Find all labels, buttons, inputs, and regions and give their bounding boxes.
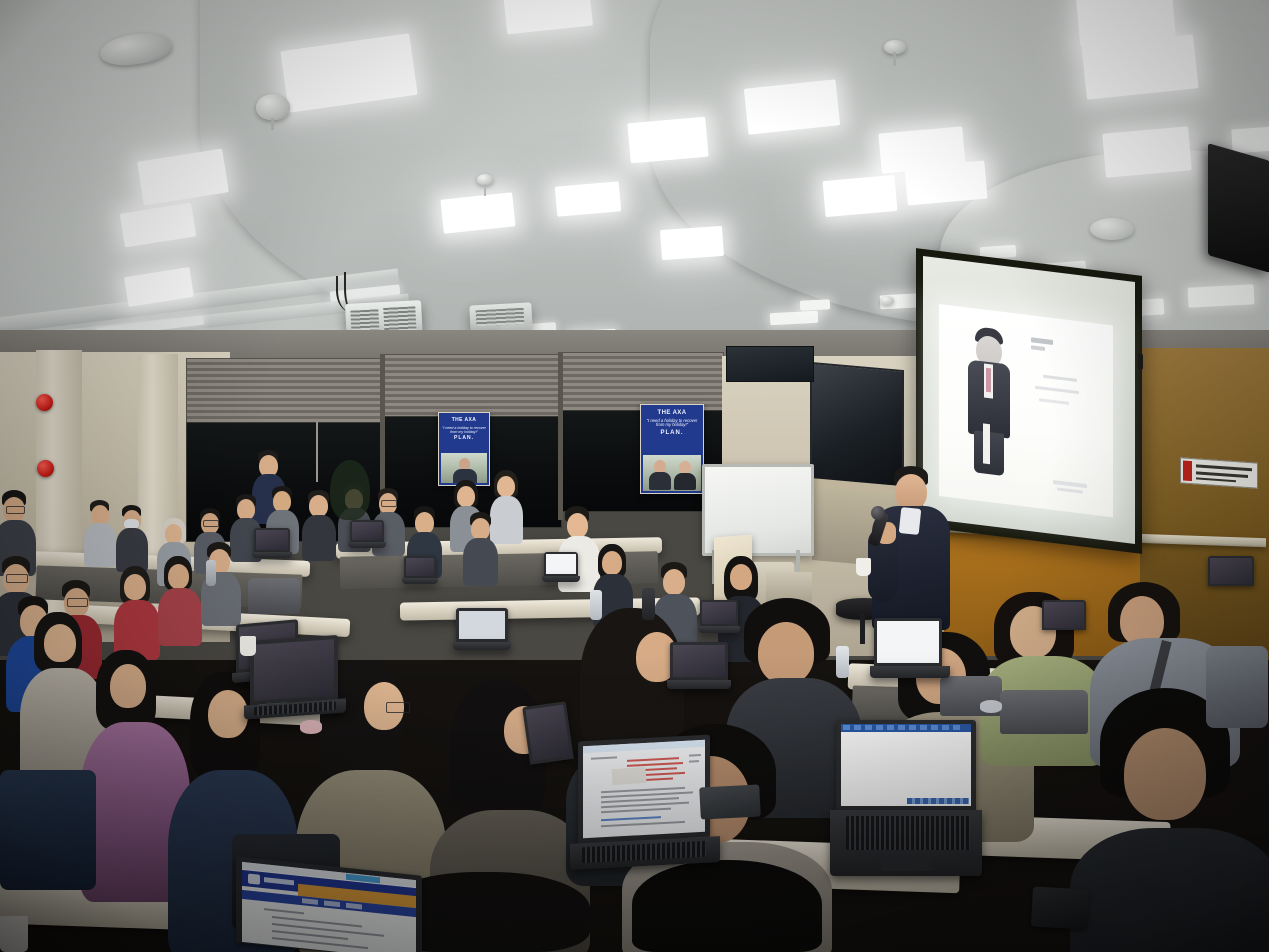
laptop-base[interactable] — [667, 680, 731, 689]
notebook[interactable] — [699, 784, 761, 819]
water-bottle[interactable] — [206, 560, 216, 586]
person-head — [168, 564, 189, 589]
banner-left: THE AXA “I need a holiday to recover fro… — [438, 412, 490, 486]
person-head — [567, 513, 588, 538]
person-head — [602, 551, 622, 575]
laptop-base[interactable] — [402, 578, 438, 584]
paper-cup[interactable] — [0, 916, 28, 952]
blind-pull-cord[interactable] — [316, 422, 318, 482]
lecture-hall-photo: THE AXA “I need a holiday to recover fro… — [0, 0, 1269, 952]
person-head — [497, 476, 515, 497]
laptop-base[interactable] — [252, 552, 292, 558]
banner-title: THE AXA — [439, 418, 489, 424]
laptop-screen[interactable] — [406, 558, 434, 576]
ceiling-ac-unit-right — [469, 302, 532, 333]
eyeglasses — [6, 574, 28, 583]
laptop-screen[interactable] — [877, 621, 939, 663]
chair-back — [248, 578, 300, 614]
laptop-base[interactable] — [542, 576, 580, 582]
wall-display-panel — [726, 346, 814, 382]
person-torso — [463, 538, 498, 586]
papers[interactable] — [611, 767, 646, 785]
ceiling-light — [823, 175, 898, 217]
backpack — [0, 770, 96, 890]
water-bottle[interactable] — [590, 590, 602, 620]
app-logo — [248, 873, 260, 884]
stool-leg — [860, 614, 865, 644]
detector-stem — [271, 118, 274, 130]
fire-alarm-icon — [36, 394, 53, 411]
figure-tie — [986, 368, 991, 393]
laptop-lid — [544, 552, 578, 576]
laptop-screen[interactable] — [673, 645, 725, 677]
fire-alarm-icon — [37, 460, 54, 477]
banner-photo — [643, 455, 701, 491]
laptop-lid — [522, 701, 574, 765]
eyeglasses — [67, 598, 88, 607]
person-head — [44, 624, 76, 662]
person-torso — [158, 588, 202, 646]
document-text-line — [601, 821, 685, 827]
laptop-lid — [836, 720, 976, 810]
slide-body-line — [1043, 375, 1077, 382]
document-sidebar-line — [689, 760, 699, 763]
ceiling-light — [770, 311, 819, 325]
vent-grille — [383, 306, 416, 332]
list-row — [264, 908, 304, 914]
projected-slide — [939, 304, 1113, 517]
person-head — [415, 512, 434, 534]
banner-quote: “I need a holiday to recover from my hol… — [442, 426, 486, 434]
plant — [330, 460, 370, 520]
sign-accent-block — [1183, 460, 1192, 481]
laptop-lid — [404, 556, 436, 578]
smartphone[interactable] — [1031, 887, 1089, 930]
ceiling-light — [800, 299, 830, 311]
person-torso — [302, 515, 336, 561]
person-hair — [632, 860, 822, 952]
eyeglasses — [381, 500, 397, 507]
document-text-line — [601, 816, 661, 821]
ceiling-light — [660, 226, 724, 260]
detector-stem — [893, 52, 896, 66]
laptop-screen[interactable] — [352, 522, 382, 540]
person-torso — [84, 523, 116, 567]
person-head — [457, 486, 475, 507]
laptop-lid — [1208, 556, 1254, 586]
smoke-detector-icon — [256, 94, 290, 120]
presenter-shirt-collar — [899, 507, 922, 535]
person-head — [730, 564, 752, 590]
laptop-base[interactable] — [698, 626, 740, 633]
chair-back — [1000, 690, 1088, 734]
list-row — [272, 937, 368, 949]
screen-mount-hook — [1138, 353, 1143, 370]
sign-text-line — [1196, 477, 1236, 482]
ceiling-light — [744, 79, 840, 134]
laptop-screen[interactable] — [256, 530, 288, 550]
laptop-screen[interactable] — [242, 862, 416, 952]
person-head — [758, 622, 814, 684]
laptop-lid — [1042, 600, 1086, 630]
laptop-trackpad[interactable] — [882, 853, 932, 871]
banner-person-body — [674, 473, 696, 490]
presenter — [866, 466, 958, 632]
person-head — [124, 574, 146, 600]
detector-stem — [484, 184, 486, 196]
laptop-lid — [456, 608, 508, 642]
eyeglasses — [6, 506, 25, 514]
microphone-head — [871, 506, 885, 520]
laptop-screen[interactable] — [1210, 558, 1252, 584]
document-toolbar[interactable] — [583, 740, 705, 753]
water-bottle[interactable] — [836, 646, 849, 678]
window-blind[interactable] — [384, 354, 562, 418]
laptop-screen[interactable] — [546, 554, 576, 574]
document-text-line — [601, 802, 689, 809]
person-torso — [490, 496, 523, 544]
ceiling-light — [1102, 126, 1192, 177]
laptop-screen[interactable] — [254, 639, 334, 701]
computer-mouse[interactable] — [980, 700, 1002, 713]
laptop-lid — [670, 642, 728, 680]
laptop-screen[interactable] — [583, 740, 705, 838]
slide-figure-silhouette — [959, 324, 1019, 491]
laptop-base[interactable] — [870, 666, 950, 678]
ceiling-light — [627, 117, 708, 164]
computer-mouse[interactable] — [300, 720, 322, 734]
paper-cup[interactable] — [240, 636, 256, 656]
person-head — [208, 690, 248, 738]
person-head — [273, 491, 291, 512]
laptop-screen[interactable] — [459, 611, 505, 639]
laptop-screen[interactable] — [526, 705, 571, 762]
banner-photo — [441, 453, 487, 483]
presenter-head — [895, 474, 927, 510]
laptop-screen[interactable] — [1044, 602, 1084, 628]
banner-tagline: PLAN. — [641, 430, 703, 437]
ceiling-light — [1188, 284, 1255, 307]
vent-grille — [476, 308, 525, 326]
figure-paper — [983, 423, 990, 464]
document-highlight-line — [627, 757, 679, 762]
document-sidebar-line — [689, 754, 701, 757]
banner-person-body — [649, 472, 671, 490]
laptop-lid — [350, 520, 384, 542]
laptop-screen[interactable] — [702, 602, 736, 624]
document-text-line — [601, 808, 671, 814]
person-head — [309, 495, 328, 517]
window-mullion — [558, 352, 563, 520]
slide-heading-line — [1031, 337, 1053, 345]
laptop-screen[interactable] — [841, 724, 971, 806]
laptop-base[interactable] — [348, 542, 386, 548]
laptop-lid — [578, 735, 710, 844]
wall-speaker — [1208, 143, 1269, 273]
window-blind[interactable] — [186, 358, 384, 424]
person-head — [110, 664, 146, 708]
ceiling-light — [555, 181, 621, 216]
slide-heading-line — [1031, 345, 1045, 351]
laptop-lid — [874, 618, 942, 666]
laptop-lid — [254, 528, 290, 552]
eyeglasses — [203, 520, 219, 527]
safety-notice-sign — [1180, 457, 1258, 488]
ceiling-light — [1231, 127, 1269, 154]
paper-cup[interactable] — [856, 558, 871, 576]
person-head — [237, 499, 255, 520]
slide-body-line — [1035, 386, 1079, 394]
person-head — [663, 569, 685, 595]
banner-title: THE AXA — [641, 410, 703, 417]
list-row — [272, 923, 384, 937]
tote-bag — [1206, 646, 1268, 728]
eyeglasses — [386, 702, 410, 713]
ceiling-vent-icon — [1090, 218, 1134, 240]
banner-tagline: PLAN. — [439, 436, 489, 442]
banner-right: THE AXA “I need a holiday to recover fro… — [640, 404, 704, 494]
person-torso — [1070, 828, 1269, 952]
status-bar — [907, 798, 969, 804]
person-head — [471, 518, 490, 540]
window-blind[interactable] — [562, 352, 724, 412]
ribbon-tabs[interactable] — [843, 725, 963, 730]
document-text-line — [591, 756, 617, 759]
banner-quote: “I need a holiday to recover from my hol… — [645, 419, 699, 428]
ceiling-light — [904, 161, 987, 206]
tumbler[interactable] — [642, 588, 655, 620]
laptop-lid — [250, 635, 338, 705]
ceiling-speaker-icon — [880, 296, 894, 305]
laptop-lid — [700, 600, 738, 626]
laptop-base[interactable] — [453, 642, 511, 650]
laptop-keyboard[interactable] — [846, 816, 970, 850]
person-head — [1124, 728, 1206, 820]
slide-watermark — [1057, 487, 1083, 493]
document-highlight-line — [627, 762, 683, 767]
slide-body-line — [1039, 398, 1069, 405]
sign-text-line — [1196, 464, 1252, 471]
person-head — [165, 524, 182, 544]
